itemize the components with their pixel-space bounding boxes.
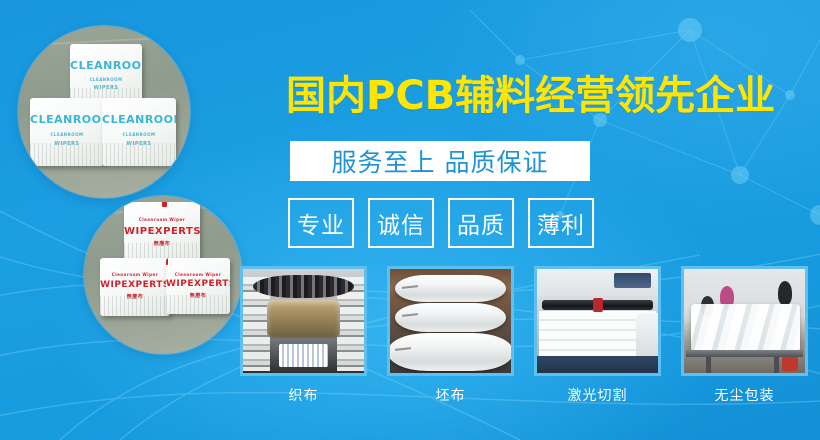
- pack-subtext-1: Cleanroom Wiper: [166, 273, 230, 277]
- laser-cutter-scene: [537, 269, 658, 373]
- feature-label: 薄利: [537, 206, 585, 240]
- laser-gantry: [542, 300, 653, 309]
- machine-drum: [267, 300, 340, 337]
- feature-box-zhuanye[interactable]: 专业: [288, 198, 354, 248]
- pack-seal-tab: [166, 258, 168, 265]
- wipe-pack: Cleanroom Wiper WIPEXPERTS 無塵布: [166, 258, 230, 314]
- feature-label: 品质: [457, 206, 505, 240]
- wipe-pack: Cleanroom Wiper WIPEXPERTS 無塵布: [124, 202, 200, 264]
- feature-label: 诚信: [377, 206, 425, 240]
- feature-box-group: 专业 诚信 品质 薄利: [288, 198, 594, 248]
- wipe-pack: CLEANROOM CLEANROOM WIPERS: [102, 98, 176, 166]
- laser-head: [593, 298, 603, 312]
- pack-brand-text: CLEANROOM: [30, 114, 104, 126]
- knitting-machine-scene: [243, 269, 364, 373]
- pack-edge-stripes: [100, 296, 170, 316]
- product-photo-cleanroom-boxes: CLEANROOM CLEANROOM WIPERS CLEANROOM CLE…: [18, 26, 190, 198]
- pack-subtext-1: CLEANROOM: [70, 78, 142, 82]
- worker-figure: [778, 281, 792, 305]
- photo-frame: [534, 266, 661, 376]
- pack-seal-tab: [162, 202, 167, 207]
- material-stack: [614, 273, 650, 288]
- packing-scene: [684, 269, 805, 373]
- fabric-roll: [395, 275, 506, 302]
- pack-brand-text: CLEANROOM: [70, 60, 142, 72]
- machine-top-ring: [253, 275, 355, 298]
- pack-subtext-1: Cleanroom Wiper: [124, 218, 200, 222]
- photo-caption: 激光切割: [534, 385, 661, 405]
- feature-label: 专业: [297, 206, 345, 240]
- pack-brand-text: WIPEXPERTS: [166, 280, 230, 289]
- pack-edge-stripes: [102, 143, 176, 166]
- feature-box-chengxin[interactable]: 诚信: [368, 198, 434, 248]
- pack-brand-text: CLEANROOM: [102, 114, 176, 126]
- process-photo-weaving[interactable]: 织布: [240, 266, 367, 405]
- feature-box-pinzhi[interactable]: 品质: [448, 198, 514, 248]
- feature-box-baoli[interactable]: 薄利: [528, 198, 594, 248]
- fabric-rolls-scene: [390, 269, 511, 373]
- pack-edge-stripes: [166, 295, 230, 314]
- red-stool: [782, 357, 798, 371]
- photo-caption: 坯布: [387, 385, 514, 405]
- photo-caption: 织布: [240, 385, 367, 405]
- machine-base: [537, 356, 658, 373]
- pack-brand-text: WIPEXPERTS: [100, 281, 170, 290]
- packed-wipe-bags: [691, 304, 800, 352]
- wipe-pack: Cleanroom Wiper WIPEXPERTS 無塵布: [100, 258, 170, 316]
- photo-caption: 无尘包装: [681, 385, 808, 405]
- promo-banner: CLEANROOM CLEANROOM WIPERS CLEANROOM CLE…: [0, 0, 820, 440]
- pack-subtext-1: CLEANROOM: [102, 133, 176, 137]
- process-photo-strip: 织布 坯布: [240, 266, 808, 405]
- wipe-pack: CLEANROOM CLEANROOM WIPERS: [30, 98, 104, 166]
- fabric-roll: [388, 333, 514, 370]
- banner-headline: 国内PCB辅料经营领先企业: [286, 76, 775, 116]
- product-photo-wipexperts: Cleanroom Wiper WIPEXPERTS 無塵布 Cleanroom…: [84, 196, 242, 354]
- process-photo-cleanroom-packing[interactable]: 无尘包装: [681, 266, 808, 405]
- knitted-fabric: [279, 344, 327, 367]
- subtitle-bar: 服务至上 品质保证: [290, 141, 590, 181]
- process-photo-greige-fabric[interactable]: 坯布: [387, 266, 514, 405]
- photo-frame: [681, 266, 808, 376]
- pack-subtext-1: CLEANROOM: [30, 133, 104, 137]
- photo-frame: [387, 266, 514, 376]
- table-leg: [774, 357, 779, 373]
- pack-subtext-1: Cleanroom Wiper: [100, 273, 170, 277]
- pack-brand-text: WIPEXPERTS: [124, 227, 200, 238]
- photo-frame: [240, 266, 367, 376]
- process-photo-laser-cutting[interactable]: 激光切割: [534, 266, 661, 405]
- subtitle-text: 服务至上 品质保证: [332, 143, 549, 179]
- fabric-roll: [395, 303, 506, 332]
- machine-side-panel: [636, 313, 658, 363]
- table-leg: [706, 357, 711, 373]
- pack-edge-stripes: [30, 143, 104, 166]
